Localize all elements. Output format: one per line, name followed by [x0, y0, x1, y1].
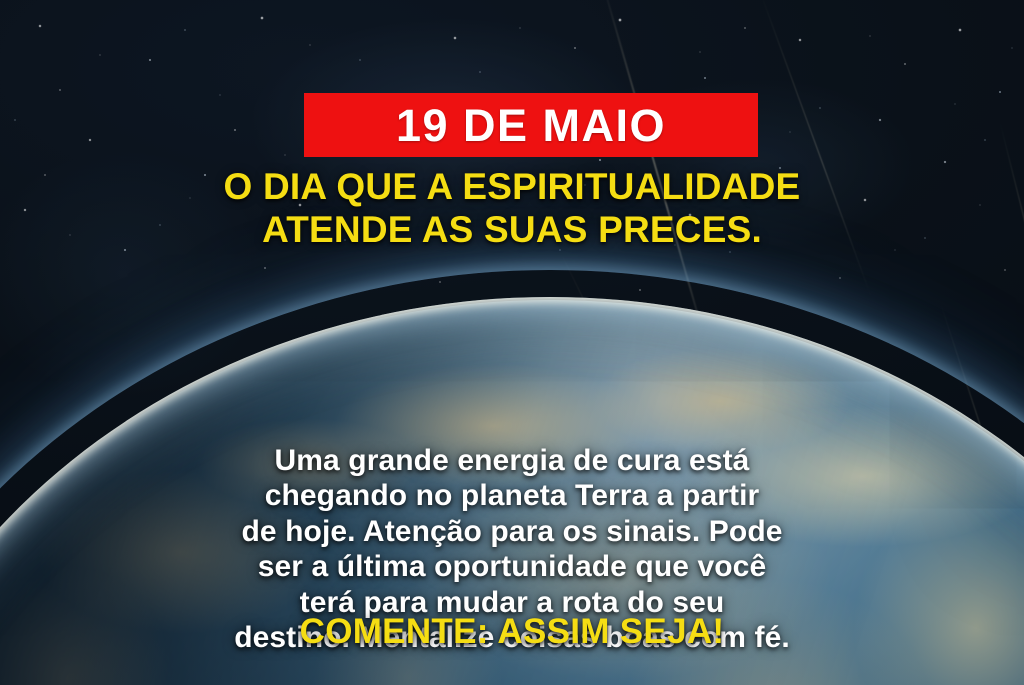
poster-canvas: 19 DE MAIO O DIA QUE A ESPIRITUALIDADE A… [0, 0, 1024, 685]
headline: O DIA QUE A ESPIRITUALIDADE ATENDE AS SU… [0, 166, 1024, 251]
headline-line-2: ATENDE AS SUAS PRECES. [24, 209, 1000, 252]
body-line-4: ser a última oportunidade que você [58, 549, 966, 584]
date-banner-label: 19 DE MAIO [396, 103, 666, 148]
date-banner: 19 DE MAIO [304, 93, 758, 157]
body-line-1: Uma grande energia de cura está [58, 443, 966, 478]
body-line-2: chegando no planeta Terra a partir [58, 478, 966, 513]
call-to-action-text: COMENTE: ASSIM SEJA! [0, 614, 1024, 649]
body-line-3: de hoje. Atenção para os sinais. Pode [58, 514, 966, 549]
headline-line-1: O DIA QUE A ESPIRITUALIDADE [224, 166, 801, 207]
